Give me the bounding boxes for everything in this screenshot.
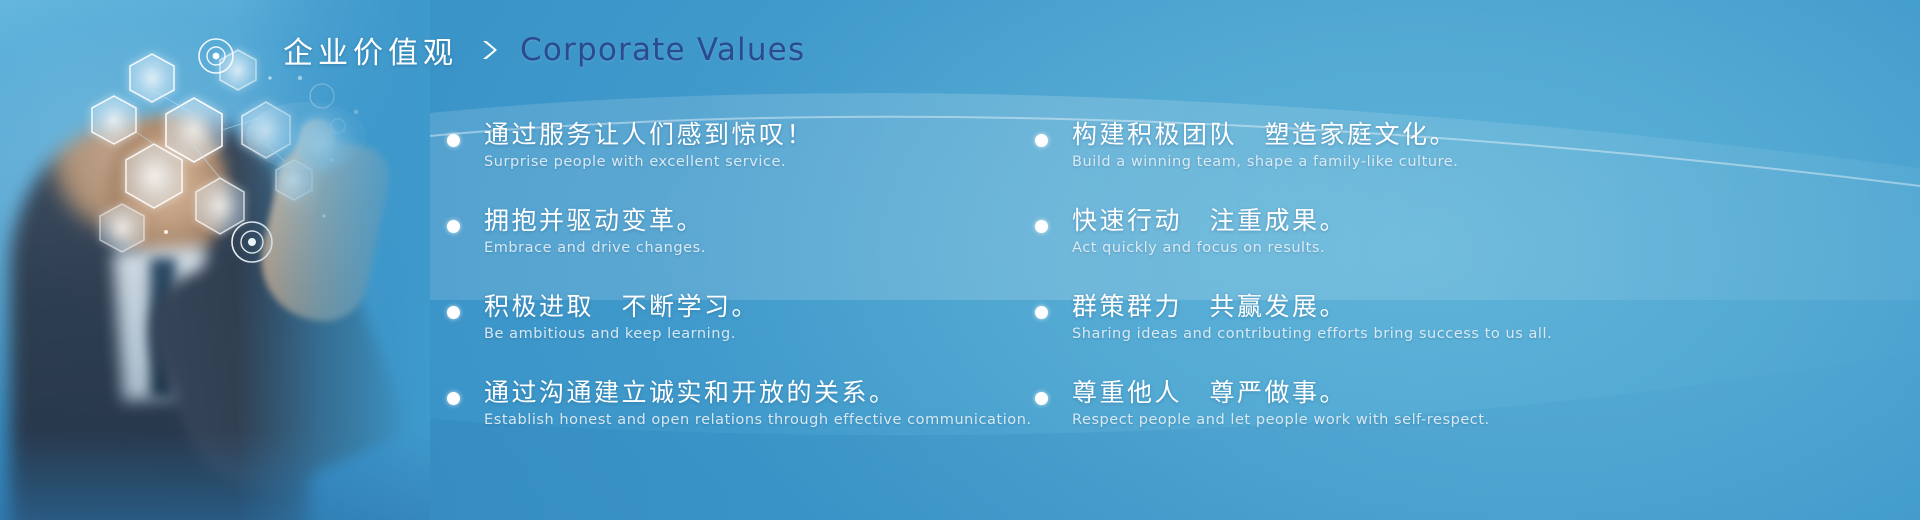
bullet-dot-icon bbox=[1035, 134, 1048, 147]
value-item: 尊重他人 尊严做事。Respect people and let people … bbox=[1028, 376, 1898, 430]
value-text-chinese: 尊重他人 尊严做事。 bbox=[1072, 376, 1898, 410]
page-title: 企业价值观 Corporate Values bbox=[283, 24, 805, 76]
value-text-english: Act quickly and focus on results. bbox=[1072, 238, 1898, 258]
value-item: 积极进取 不断学习。Be ambitious and keep learning… bbox=[440, 290, 1040, 344]
bullet-dot-icon bbox=[447, 134, 460, 147]
value-item: 构建积极团队 塑造家庭文化。Build a winning team, shap… bbox=[1028, 118, 1898, 172]
value-text-chinese: 拥抱并驱动变革。 bbox=[484, 204, 1040, 238]
value-item: 快速行动 注重成果。Act quickly and focus on resul… bbox=[1028, 204, 1898, 258]
value-text-english: Build a winning team, shape a family-lik… bbox=[1072, 152, 1898, 172]
bullet-dot-icon bbox=[1035, 306, 1048, 319]
bullet-dot-icon bbox=[1035, 392, 1048, 405]
value-text-english: Sharing ideas and contributing efforts b… bbox=[1072, 324, 1898, 344]
value-text-chinese: 积极进取 不断学习。 bbox=[484, 290, 1040, 324]
value-text-english: Surprise people with excellent service. bbox=[484, 152, 1040, 172]
title-chinese: 企业价值观 bbox=[283, 28, 458, 72]
value-text-english: Embrace and drive changes. bbox=[484, 238, 1040, 258]
chevron-right-icon bbox=[476, 37, 502, 63]
value-item: 通过服务让人们感到惊叹！Surprise people with excelle… bbox=[440, 118, 1040, 172]
value-text-english: Establish honest and open relations thro… bbox=[484, 410, 1040, 430]
value-text-chinese: 通过沟通建立诚实和开放的关系。 bbox=[484, 376, 1040, 410]
value-item: 拥抱并驱动变革。Embrace and drive changes. bbox=[440, 204, 1040, 258]
value-text-chinese: 通过服务让人们感到惊叹！ bbox=[484, 118, 1040, 152]
businessman-photo bbox=[0, 0, 430, 520]
bullet-dot-icon bbox=[447, 306, 460, 319]
title-english: Corporate Values bbox=[520, 32, 805, 68]
value-text-chinese: 群策群力 共赢发展。 bbox=[1072, 290, 1898, 324]
bullet-dot-icon bbox=[447, 220, 460, 233]
corporate-values-banner: 企业价值观 Corporate Values 通过服务让人们感到惊叹！Surpr… bbox=[0, 0, 1920, 520]
values-column-left: 通过服务让人们感到惊叹！Surprise people with excelle… bbox=[440, 118, 1040, 462]
value-text-chinese: 构建积极团队 塑造家庭文化。 bbox=[1072, 118, 1898, 152]
value-text-english: Respect people and let people work with … bbox=[1072, 410, 1898, 430]
value-text-english: Be ambitious and keep learning. bbox=[484, 324, 1040, 344]
photo-bottom-fade bbox=[0, 430, 430, 520]
values-column-right: 构建积极团队 塑造家庭文化。Build a winning team, shap… bbox=[1028, 118, 1898, 462]
value-item: 通过沟通建立诚实和开放的关系。Establish honest and open… bbox=[440, 376, 1040, 430]
bullet-dot-icon bbox=[447, 392, 460, 405]
bullet-dot-icon bbox=[1035, 220, 1048, 233]
value-item: 群策群力 共赢发展。Sharing ideas and contributing… bbox=[1028, 290, 1898, 344]
value-text-chinese: 快速行动 注重成果。 bbox=[1072, 204, 1898, 238]
